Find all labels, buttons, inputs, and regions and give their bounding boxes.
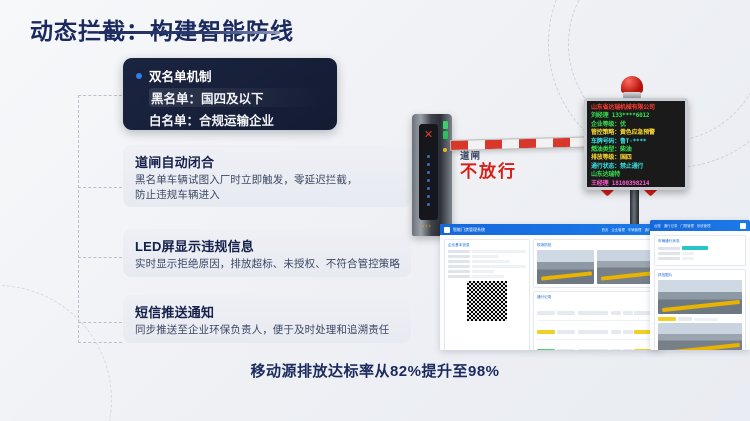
panel-title: 车辆通行状态 <box>658 239 742 244</box>
feature-desc-line1: 同步推送至企业环保负责人，便于及时处理和追溯责任 <box>135 323 401 338</box>
led-line: 企业等级：优 <box>591 121 681 129</box>
feature-card-sms-push: 短信推送通知 同步推送至企业环保负责人，便于及时处理和追溯责任 <box>123 295 411 343</box>
dashboard-menu-item[interactable]: 车辆管理 <box>628 227 642 232</box>
bullet-dot-icon <box>136 73 142 79</box>
table-row <box>537 340 654 351</box>
beacon-dome <box>621 76 643 93</box>
led-line: 管控策略：黄色应急预警 <box>591 129 681 137</box>
pillar-led-strip <box>419 150 438 211</box>
panel-title: 企业基本信息 <box>448 243 526 248</box>
camera-snapshot <box>537 250 594 284</box>
pillar-deny-icon: ✕ <box>419 130 438 141</box>
dashboard-menu-item[interactable]: 门禁管理 <box>680 223 694 228</box>
pillar-screen: ✕ <box>419 124 438 220</box>
alarm-beacon-icon <box>621 76 643 100</box>
app-logo-icon <box>444 227 450 233</box>
photo-composite: ✕ ››› 道闸 不放行 山东省达瑞机械有限公司 刘经理 133****6012… <box>398 92 750 350</box>
gate-label-big: 不放行 <box>460 162 517 182</box>
dashboard-screenshot-secondary: 台账 通行记录 门禁管理 系统管理 车辆通行状态 抓拍图片 <box>650 220 750 350</box>
feature-title: 短信推送通知 <box>135 302 401 321</box>
dashboard-body: 企业基本信息 现场抓拍 <box>440 235 662 350</box>
camera-snapshot <box>658 323 742 350</box>
title-underline <box>98 31 280 34</box>
dashboard-menu-item[interactable]: 系统管理 <box>697 223 711 228</box>
panel-pass-records: 通行记录 <box>533 291 658 350</box>
status-badge <box>682 246 708 250</box>
panel-title: 现场抓拍 <box>537 243 654 248</box>
dashboard-menu-item[interactable]: 通行记录 <box>664 223 678 228</box>
table-row <box>537 321 654 340</box>
dashboard-menu-item[interactable]: 台账 <box>654 223 661 228</box>
led-line: 通行状态：禁止通行 <box>591 163 681 171</box>
gate-pillar: ✕ ››› <box>412 114 452 236</box>
table-row <box>537 302 654 321</box>
decor-dashed-connector <box>78 95 122 343</box>
pillar-indicator-green-2 <box>443 131 448 139</box>
whitelist-row: 白名单：合规运输企业 <box>149 110 325 129</box>
feature-title: LED屏显示违规信息 <box>135 236 401 255</box>
decor-dashed-tick-2 <box>78 257 122 258</box>
led-line: 山东达瑞特 <box>591 171 681 179</box>
feature-desc-line1: 黑名单车辆试图入厂时立即触发，零延迟拦截， <box>135 173 401 188</box>
camera-snapshot <box>597 250 654 284</box>
led-information-board: 山东省达瑞机械有限公司 刘经理 133****6012 企业等级：优 管控策略：… <box>584 98 688 190</box>
gate-label-small: 道闸 <box>460 148 517 162</box>
pillar-indicator-amber <box>443 148 447 152</box>
user-avatar-icon[interactable] <box>740 223 746 229</box>
pillar-indicator-green-1 <box>443 121 448 129</box>
feature-desc-line2: 防止违规车辆进入 <box>135 188 401 203</box>
company-qr-code <box>467 281 507 321</box>
dashboard-menu-item[interactable]: 企业管理 <box>611 227 625 232</box>
gate-status-label: 道闸 不放行 <box>460 148 517 182</box>
dashboard-title: 智能门禁管理系统 <box>453 227 485 233</box>
dashboard-screenshot-main: 智能门禁管理系统 首页 企业管理 车辆管理 通行记录 企业基本信息 <box>440 224 662 350</box>
led-line: 车牌号码：鲁T·**** <box>591 138 681 146</box>
panel-title: 抓拍图片 <box>658 273 742 278</box>
dual-list-card-header: 双名单机制 <box>136 66 325 85</box>
pillar-footer-marks: ››› <box>422 223 432 230</box>
dual-list-card: 双名单机制 黑名单：国四及以下 白名单：合规运输企业 <box>123 58 337 130</box>
dashboard-topbar: 台账 通行记录 门禁管理 系统管理 <box>650 220 750 231</box>
blacklist-row: 黑名单：国四及以下 <box>149 88 325 107</box>
panel-capture-images: 抓拍图片 <box>654 269 746 350</box>
camera-snapshot <box>658 280 742 314</box>
led-line: 排放等级：国四 <box>591 154 681 162</box>
panel-vehicle-status: 车辆通行状态 <box>654 235 746 266</box>
decor-dashed-tick-1 <box>78 187 122 188</box>
dashboard-topbar: 智能门禁管理系统 首页 企业管理 车辆管理 通行记录 <box>440 224 662 235</box>
panel-company-info: 企业基本信息 <box>444 239 530 350</box>
dual-list-card-title: 双名单机制 <box>149 66 212 85</box>
slide-root: 动态拦截：构建智能防线 双名单机制 黑名单：国四及以下 白名单：合规运输企业 道… <box>0 0 750 421</box>
feature-title: 道闸自动闭合 <box>135 152 401 171</box>
led-line: 刘经理 133****6012 <box>591 112 681 120</box>
panel-title: 通行记录 <box>537 295 654 300</box>
decor-dashed-tick-3 <box>78 322 122 323</box>
feature-card-gate-close: 道闸自动闭合 黑名单车辆试图入厂时立即触发，零延迟拦截， 防止违规车辆进入 <box>123 145 411 207</box>
led-line: 王经理 18100398214 <box>591 180 681 188</box>
feature-card-led-display: LED屏显示违规信息 实时显示拒绝原因，排放超标、未授权、不符合管控策略 <box>123 229 411 277</box>
panel-site-capture: 现场抓拍 <box>533 239 658 288</box>
records-table <box>537 302 654 350</box>
bottom-caption: 移动源排放达标率从82%提升至98% <box>0 360 750 381</box>
feature-desc-line1: 实时显示拒绝原因，排放超标、未授权、不符合管控策略 <box>135 257 401 272</box>
dashboard-menu-item[interactable]: 首页 <box>602 227 609 232</box>
